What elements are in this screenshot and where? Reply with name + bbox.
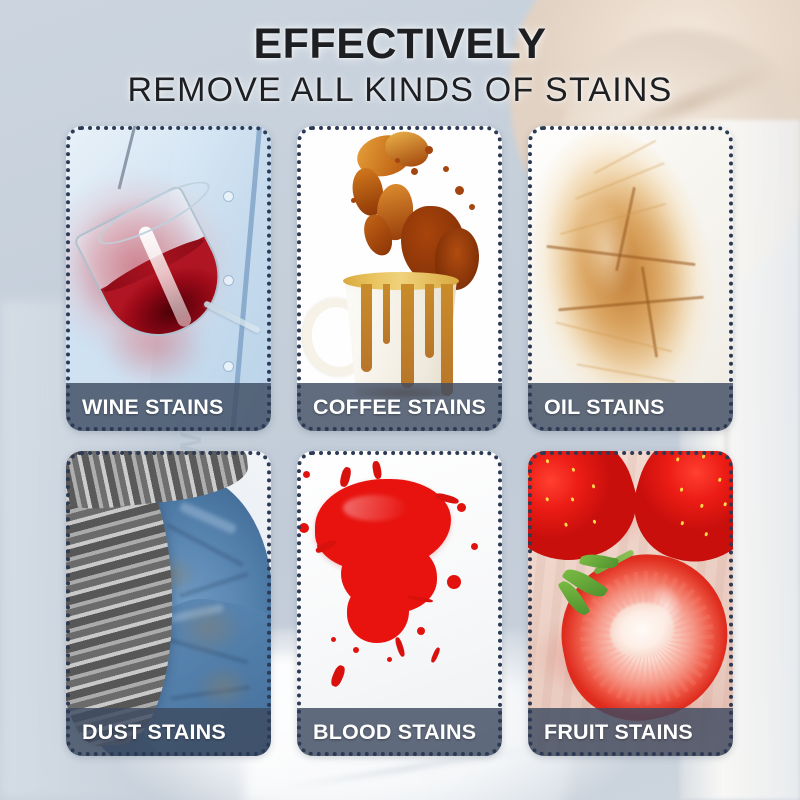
card-label-bar: DUST STAINS <box>66 708 271 756</box>
heading-line-2: REMOVE ALL KINDS OF STAINS <box>0 73 800 109</box>
card-label-bar: WINE STAINS <box>66 383 271 431</box>
card-label-text: WINE STAINS <box>66 395 224 420</box>
stain-card-fruit[interactable]: FRUIT STAINS <box>528 451 733 756</box>
card-label-text: OIL STAINS <box>528 395 665 420</box>
stain-card-dust[interactable]: ⌽ ── DUST STAINS <box>66 451 271 756</box>
card-label-bar: COFFEE STAINS <box>297 383 502 431</box>
stain-card-grid: WINE STAINS <box>66 126 734 756</box>
stain-card-wine[interactable]: WINE STAINS <box>66 126 271 431</box>
coffee-splash <box>351 132 479 292</box>
card-label-text: FRUIT STAINS <box>528 720 693 745</box>
card-label-text: COFFEE STAINS <box>297 395 486 420</box>
card-label-text: DUST STAINS <box>66 720 226 745</box>
card-label-bar: FRUIT STAINS <box>528 708 733 756</box>
stain-card-blood[interactable]: BLOOD STAINS <box>297 451 502 756</box>
card-label-text: BLOOD STAINS <box>297 720 476 745</box>
card-label-bar: BLOOD STAINS <box>297 708 502 756</box>
stain-card-coffee[interactable]: COFFEE STAINS <box>297 126 502 431</box>
stain-card-oil[interactable]: OIL STAINS <box>528 126 733 431</box>
heading-line-1: EFFECTIVELY <box>0 22 800 67</box>
card-label-bar: OIL STAINS <box>528 383 733 431</box>
page-title: EFFECTIVELY REMOVE ALL KINDS OF STAINS <box>0 22 800 109</box>
